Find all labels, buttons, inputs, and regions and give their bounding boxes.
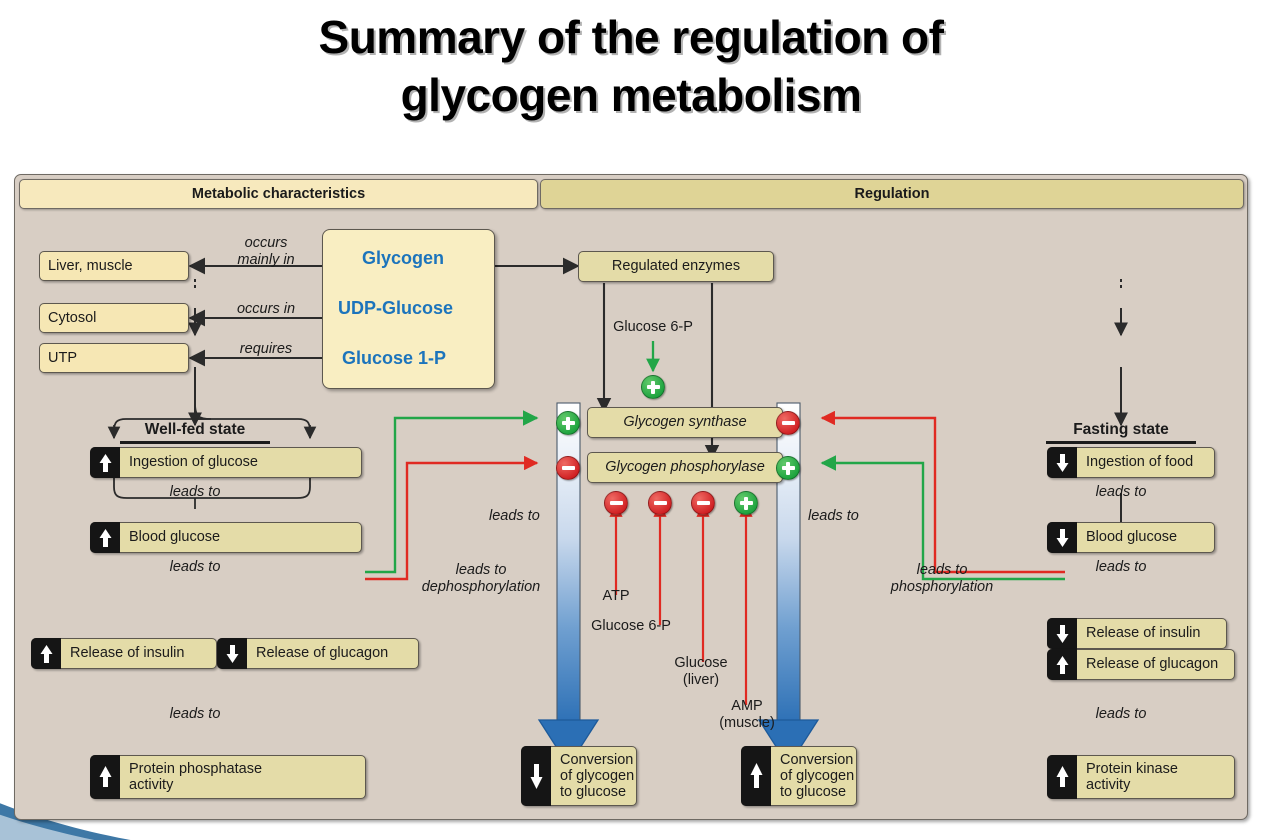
well-fed-pair-insulin-chip (31, 638, 61, 669)
fasting-step-1[interactable]: Blood glucose (1047, 522, 1215, 553)
page-title-line-2: glycogen metabolism (0, 66, 1262, 124)
allosteric-label-glucose-6-p: Glucose 6-P (561, 618, 701, 635)
well-fed-leads-to-2: leads to (145, 706, 245, 723)
outcome-left-label: Conversion of glycogen to glucose (552, 752, 642, 801)
fasting-step-0-chip (1047, 447, 1077, 478)
fasting-final-protein-kinase[interactable]: Protein kinase activity (1047, 755, 1235, 799)
arrow-down-icon (225, 643, 240, 665)
leads-to-left-bar: leads to (489, 508, 540, 525)
well-fed-step-0-label: Ingestion of glucose (121, 454, 266, 470)
figure-panel: Metabolic characteristics Regulation (14, 174, 1248, 820)
header-regulation-label: Regulation (855, 186, 930, 202)
arrow-up-icon (98, 452, 113, 474)
arrow-down-icon (1055, 527, 1070, 549)
arrow-up-icon (98, 764, 113, 790)
enzyme-label-1: Glycogen phosphorylase (597, 459, 773, 475)
fasting-step-1-chip (1047, 522, 1077, 553)
outcome-box-left[interactable]: Conversion of glycogen to glucose (521, 746, 637, 806)
target-box-utp[interactable]: UTP (39, 343, 189, 373)
well-fed-step-0-chip (90, 447, 120, 478)
arrow-up-icon (749, 761, 764, 791)
well-fed-pair-insulin-label: Release of insulin (62, 645, 192, 661)
well-fed-final-protein-phosphatase[interactable]: Protein phosphatase activity (90, 755, 366, 799)
cycle-label-glycogen: Glycogen (362, 248, 444, 269)
well-fed-step-0[interactable]: Ingestion of glucose (90, 447, 362, 478)
fasting-final-label: Protein kinase activity (1078, 761, 1186, 793)
well-fed-pair-insulin[interactable]: Release of insulin (31, 638, 217, 669)
regulated-enzymes-box[interactable]: Regulated enzymes (578, 251, 774, 282)
relation-label-1: occurs in (211, 301, 321, 318)
allosteric-label-glucose-liver: Glucose (liver) (643, 655, 759, 689)
outcome-box-right[interactable]: Conversion of glycogen to glucose (741, 746, 857, 806)
badge-minus-glucose-6-p (648, 491, 672, 515)
target-label-0: Liver, muscle (40, 258, 141, 274)
fasting-step-3[interactable]: Release of glucagon (1047, 649, 1235, 680)
fasting-step-0-label: Ingestion of food (1078, 454, 1201, 470)
fasting-step-3-label: Release of glucagon (1078, 656, 1226, 672)
fasting-step-2-chip (1047, 618, 1077, 649)
target-label-2: UTP (40, 350, 85, 366)
badge-plus-phosphorylase-right (776, 456, 800, 480)
header-metabolic-label: Metabolic characteristics (192, 186, 365, 202)
leads-to-phosphorylation-label: leads to phosphorylation (872, 562, 1012, 596)
arrow-up-icon (98, 527, 113, 549)
well-fed-heading: Well-fed state (115, 421, 275, 439)
fasting-step-0[interactable]: Ingestion of food (1047, 447, 1215, 478)
target-label-1: Cytosol (40, 310, 104, 326)
well-fed-leads-to-0: leads to (145, 484, 245, 501)
outcome-left-arrow-chip (521, 746, 551, 806)
well-fed-underline (120, 441, 270, 444)
allosteric-label-atp: ATP (573, 588, 659, 605)
badge-minus-glucose-liver (691, 491, 715, 515)
target-box-cytosol[interactable]: Cytosol (39, 303, 189, 333)
fasting-leads-to-1: leads to (1071, 559, 1171, 576)
well-fed-step-1[interactable]: Blood glucose (90, 522, 362, 553)
well-fed-pair-glucagon[interactable]: Release of glucagon (217, 638, 419, 669)
page-title: Summary of the regulation of glycogen me… (0, 8, 1262, 124)
enzyme-box-glycogen-synthase[interactable]: Glycogen synthase (587, 407, 783, 438)
arrow-down-icon (529, 761, 544, 791)
badge-minus-synthase-right (776, 411, 800, 435)
arrow-up-icon (1055, 654, 1070, 676)
well-fed-pair-glucagon-label: Release of glucagon (248, 645, 396, 661)
enzyme-label-0: Glycogen synthase (615, 414, 754, 430)
allosteric-label-amp-muscle: AMP (muscle) (689, 698, 805, 732)
well-fed-final-label: Protein phosphatase activity (121, 761, 270, 793)
badge-plus-glucose-6-p (641, 375, 665, 399)
arrow-up-icon (1055, 764, 1070, 790)
fasting-step-2-label: Release of insulin (1078, 625, 1208, 641)
outcome-right-label: Conversion of glycogen to glucose (772, 752, 862, 801)
well-fed-step-1-chip (90, 522, 120, 553)
fasting-leads-to-0: leads to (1071, 484, 1171, 501)
figure-root: Summary of the regulation of glycogen me… (0, 0, 1262, 840)
relation-label-0: occurs mainly in (211, 235, 321, 269)
header-metabolic-characteristics: Metabolic characteristics (19, 179, 538, 209)
outcome-right-arrow-chip (741, 746, 771, 806)
glycogen-cycle-box: Glycogen UDP-Glucose Glucose 1-P (322, 229, 495, 389)
arrow-down-icon (1055, 623, 1070, 645)
page-title-line-1: Summary of the regulation of (0, 8, 1262, 66)
cycle-label-glucose-1-p: Glucose 1-P (342, 348, 446, 369)
badge-minus-atp (604, 491, 628, 515)
badge-minus-phosphorylase-left (556, 456, 580, 480)
relation-label-2: requires (211, 341, 321, 358)
header-regulation: Regulation (540, 179, 1244, 209)
well-fed-step-1-label: Blood glucose (121, 529, 228, 545)
fasting-final-chip (1047, 755, 1077, 799)
arrow-down-icon (1055, 452, 1070, 474)
fasting-underline (1046, 441, 1196, 444)
well-fed-pair-glucagon-chip (217, 638, 247, 669)
cycle-label-udp-glucose: UDP-Glucose (338, 298, 453, 319)
well-fed-final-chip (90, 755, 120, 799)
badge-plus-amp-muscle (734, 491, 758, 515)
glucose-6-p-activator-label: Glucose 6-P (593, 319, 713, 336)
fasting-step-2[interactable]: Release of insulin (1047, 618, 1227, 649)
fasting-leads-to-2: leads to (1071, 706, 1171, 723)
regulated-enzymes-label: Regulated enzymes (604, 258, 748, 274)
fasting-heading: Fasting state (1041, 421, 1201, 439)
fasting-step-3-chip (1047, 649, 1077, 680)
arrow-up-icon (39, 643, 54, 665)
leads-to-dephosphorylation-label: leads to dephosphorylation (411, 562, 551, 596)
leads-to-right-bar: leads to (808, 508, 859, 525)
badge-plus-synthase-left (556, 411, 580, 435)
target-box-liver-muscle[interactable]: Liver, muscle (39, 251, 189, 281)
enzyme-box-glycogen-phosphorylase[interactable]: Glycogen phosphorylase (587, 452, 783, 483)
well-fed-leads-to-1: leads to (145, 559, 245, 576)
fasting-step-1-label: Blood glucose (1078, 529, 1185, 545)
